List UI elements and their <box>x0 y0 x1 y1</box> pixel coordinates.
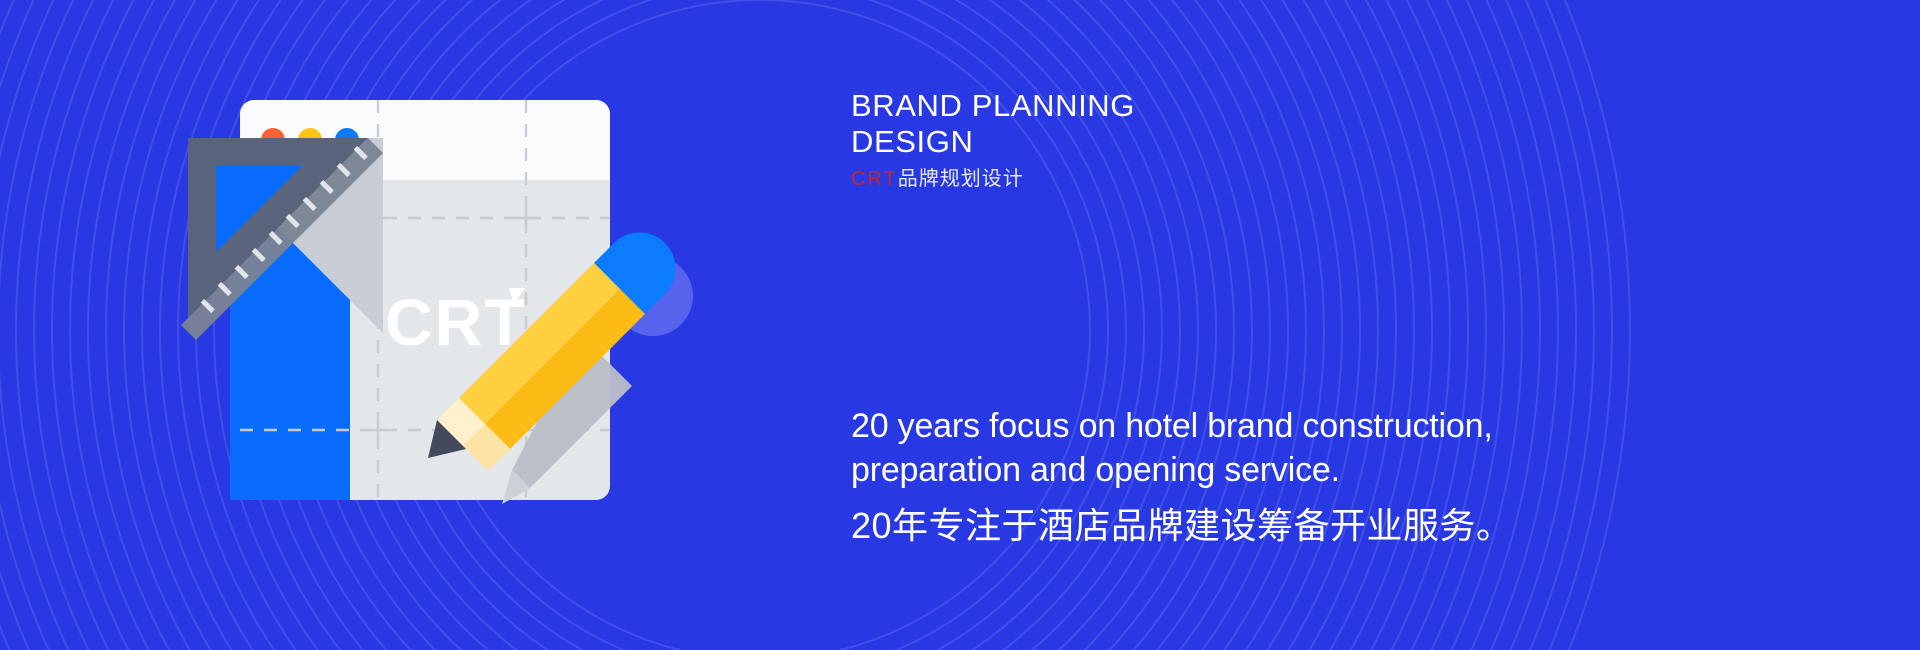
heading-english: BRAND PLANNING DESIGN <box>851 88 1135 160</box>
brand-design-illustration: CRT <box>230 60 850 600</box>
text-column: BRAND PLANNING DESIGN CRT品牌规划设计 20 years… <box>851 0 1851 650</box>
tagline-english: 20 years focus on hotel brand constructi… <box>851 404 1513 492</box>
tagline-block: 20 years focus on hotel brand constructi… <box>851 404 1513 552</box>
heading-brand-crt: CRT <box>851 168 898 190</box>
heading-block: BRAND PLANNING DESIGN CRT品牌规划设计 <box>851 88 1135 192</box>
heading-chinese: CRT品牌规划设计 <box>851 166 1135 192</box>
tagline-chinese: 20年专注于酒店品牌建设筹备开业服务。 <box>851 500 1513 552</box>
crt-logo-mark: CRT <box>385 285 527 359</box>
heading-chinese-text: 品牌规划设计 <box>898 168 1024 190</box>
brand-banner: CRT <box>0 0 1920 650</box>
svg-text:CRT: CRT <box>385 285 527 359</box>
